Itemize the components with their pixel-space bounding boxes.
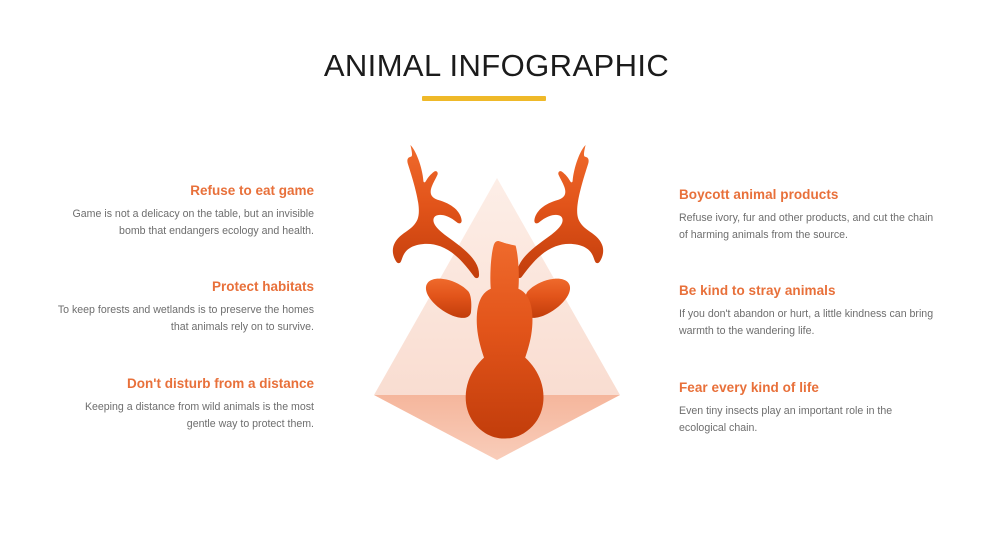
page-title-text: ANIMAL INFOGRAPHIC [0, 44, 993, 88]
item-heading: Don't disturb from a distance [56, 375, 314, 392]
list-item: Refuse to eat game Game is not a delicac… [56, 182, 314, 239]
item-body: To keep forests and wetlands is to prese… [56, 302, 314, 335]
item-heading: Fear every kind of life [679, 379, 937, 396]
item-heading: Boycott animal products [679, 186, 937, 203]
list-item: Don't disturb from a distance Keeping a … [56, 375, 314, 432]
item-body: If you don't abandon or hurt, a little k… [679, 306, 937, 339]
infographic-slide: ANIMAL INFOGRAPHIC Refuse to eat game Ga… [0, 0, 993, 558]
item-body: Refuse ivory, fur and other products, an… [679, 210, 937, 243]
list-item: Be kind to stray animals If you don't ab… [679, 282, 937, 339]
title-underline-rule [422, 96, 546, 101]
item-heading: Refuse to eat game [56, 182, 314, 199]
item-body: Even tiny insects play an important role… [679, 403, 937, 436]
item-body: Game is not a delicacy on the table, but… [56, 206, 314, 239]
deer-head-icon [348, 145, 648, 475]
list-item: Boycott animal products Refuse ivory, fu… [679, 186, 937, 243]
list-item: Protect habitats To keep forests and wet… [56, 278, 314, 335]
page-title: ANIMAL INFOGRAPHIC [0, 44, 993, 88]
list-item: Fear every kind of life Even tiny insect… [679, 379, 937, 436]
item-body: Keeping a distance from wild animals is … [56, 399, 314, 432]
item-heading: Be kind to stray animals [679, 282, 937, 299]
item-heading: Protect habitats [56, 278, 314, 295]
